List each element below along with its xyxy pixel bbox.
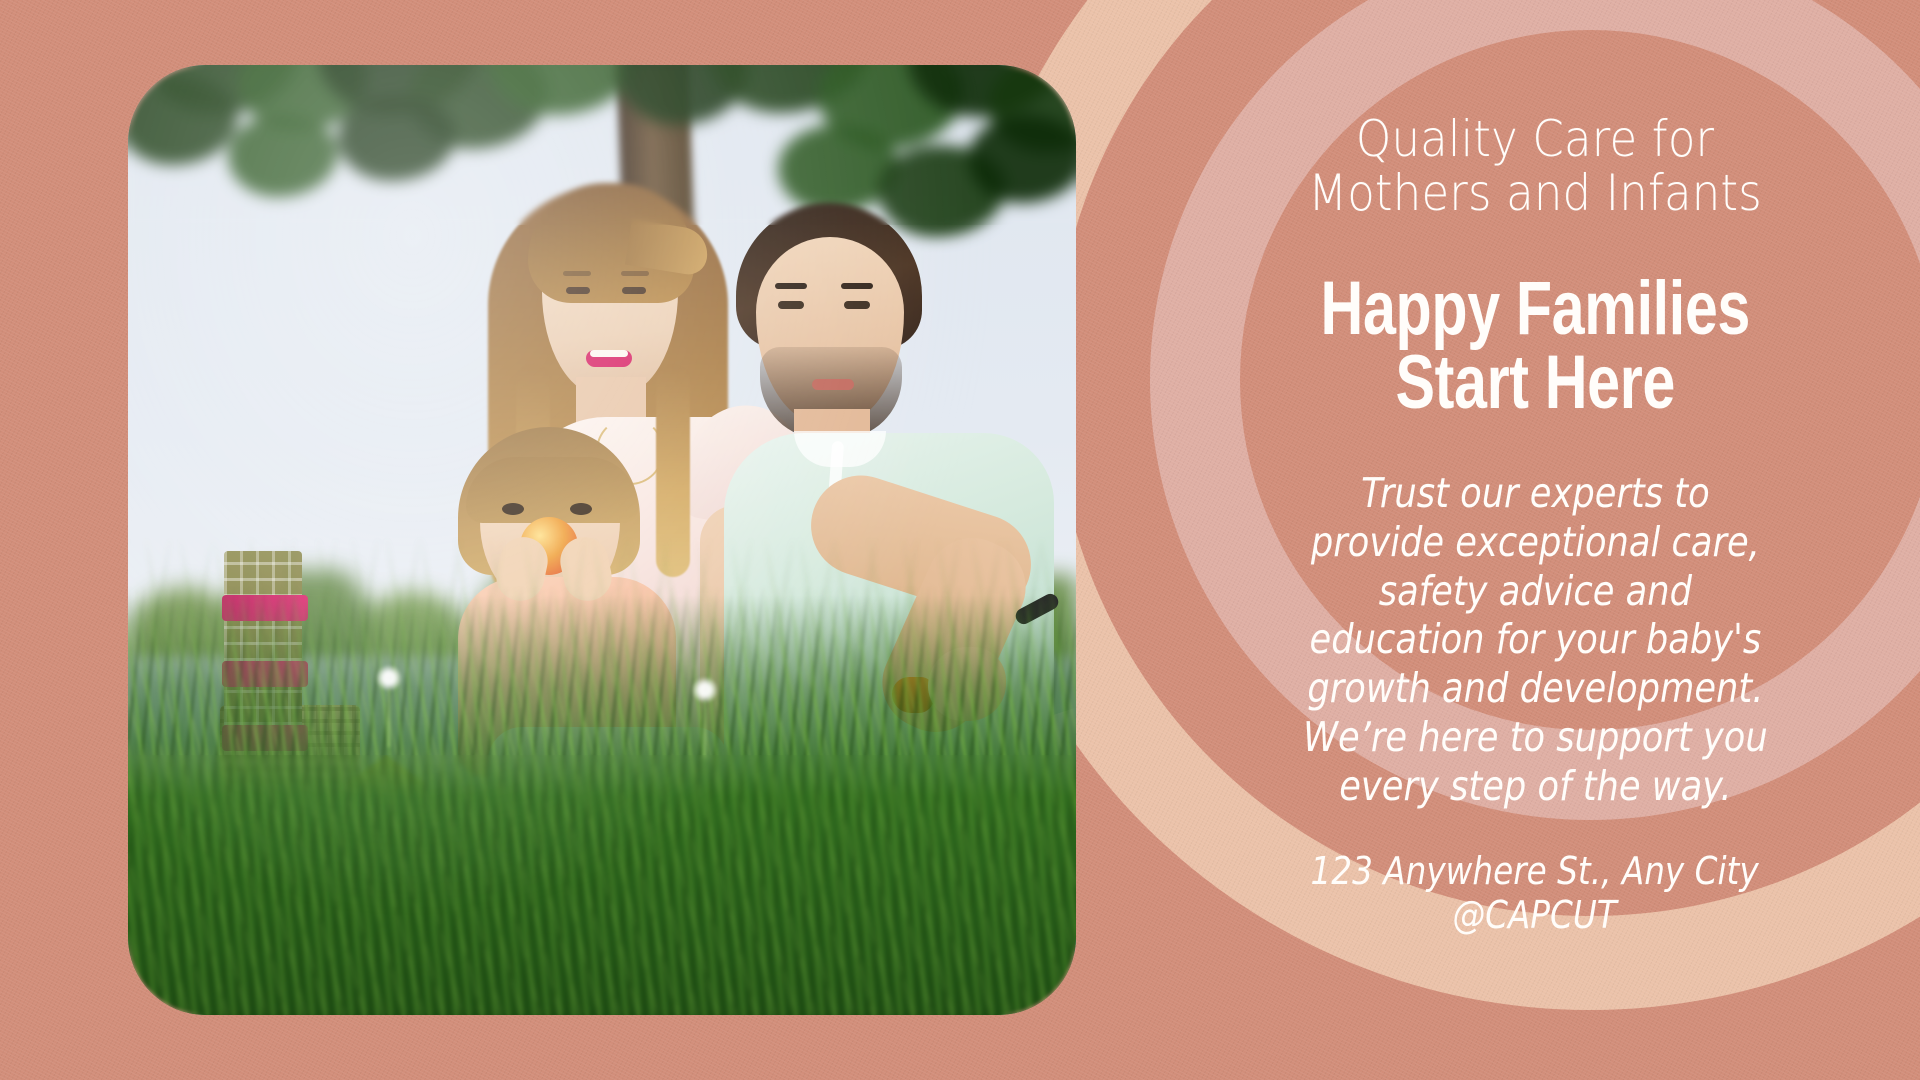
body-copy: Trust our experts to provide exceptional… [1203,469,1868,810]
father-eye-left [778,301,804,309]
mother-teeth [590,350,628,357]
mother-eyebrow-left [563,271,591,276]
father-lips [812,379,854,390]
eyebrow-line-2: Mothers and Infants [1308,166,1762,220]
child-eye-left [502,503,524,515]
mother-eye-left [566,287,590,294]
body-line-5: growth and development. [1203,664,1868,713]
family-photo [128,65,1076,1015]
mother-eye-right [622,287,646,294]
mother-eyebrow-right [621,271,649,276]
headline-line-2: Start Here [1320,346,1749,420]
child-eye-right [570,503,592,515]
social-handle: @CAPCUT [1311,894,1759,937]
poster-canvas: Quality Care for Mothers and Infants Hap… [0,0,1920,1080]
father-eyebrow-left [775,283,807,289]
contact-block: 123 Anywhere St., Any City @CAPCUT [1311,850,1759,937]
body-line-3: safety advice and [1203,567,1868,616]
photo-content [128,65,1076,1015]
depth-of-field-bottom [128,755,1076,1015]
text-column: Quality Care for Mothers and Infants Hap… [1190,0,1880,1080]
father-eyebrow-right [841,283,873,289]
child-fringe [466,457,638,523]
eyebrow-line-1: Quality Care for [1308,112,1762,166]
dandelion-left [376,665,402,691]
address-line: 123 Anywhere St., Any City [1311,850,1759,893]
eyebrow-heading: Quality Care for Mothers and Infants [1308,112,1762,220]
body-line-2: provide exceptional care, [1203,518,1868,567]
headline: Happy Families Start Here [1320,272,1749,421]
father-eye-right [844,301,870,309]
body-line-4: education for your baby's [1203,615,1868,664]
headline-line-1: Happy Families [1320,272,1749,346]
body-line-7: every step of the way. [1203,762,1868,811]
body-line-6: We’re here to support you [1203,713,1868,762]
depth-of-field-top [128,65,1076,225]
dandelion-right [692,677,718,703]
body-line-1: Trust our experts to [1203,469,1868,518]
